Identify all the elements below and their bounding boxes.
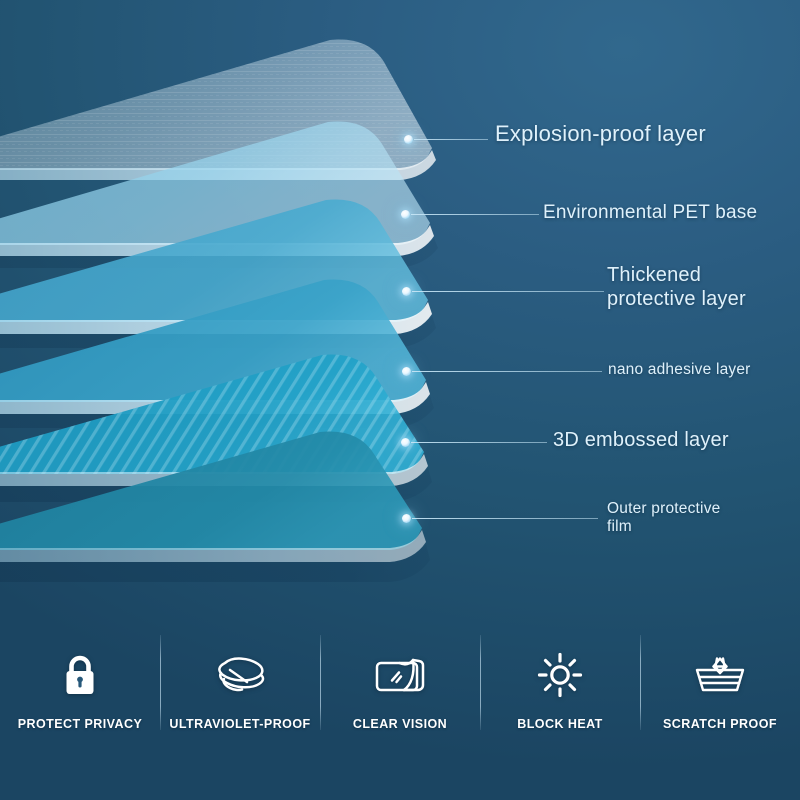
callout-label-environmental-pet-base: Environmental PET base	[543, 202, 757, 224]
feature-label: SCRATCH PROOF	[663, 717, 777, 731]
callout-dot-4	[402, 367, 411, 376]
callout-label-explosion-proof-layer: Explosion-proof layer	[495, 121, 706, 147]
callout-label-3d-embossed-layer: 3D embossed layer	[553, 429, 729, 453]
feature-scratch-proof[interactable]: SCRATCH PROOF	[640, 625, 800, 800]
callout-dot-1	[404, 135, 413, 144]
callout-leader-3	[412, 291, 604, 292]
layer-outer-protective-film	[0, 431, 430, 582]
layer-nano-adhesive	[0, 279, 434, 428]
diamond-glass-icon	[689, 647, 751, 703]
feature-block-heat[interactable]: BLOCK HEAT	[480, 625, 640, 800]
layer-thickened-protective	[0, 199, 436, 348]
callout-dot-6	[402, 514, 411, 523]
feature-ultraviolet-proof[interactable]: ULTRAVIOLET-PROOF	[160, 625, 320, 800]
callout-leader-6	[412, 518, 598, 519]
feature-bar: PROTECT PRIVACY ULTRAVIOLET-PROOF	[0, 625, 800, 800]
feature-label: BLOCK HEAT	[517, 717, 603, 731]
callout-dot-2	[401, 210, 410, 219]
lock-icon	[60, 647, 100, 703]
layer-explosion-proof	[0, 39, 436, 180]
sun-icon	[536, 647, 584, 703]
cloth-icon	[211, 647, 269, 703]
screen-peel-icon	[371, 647, 429, 703]
callout-label-thickened-protective-layer: Thickened protective layer	[607, 264, 746, 311]
feature-clear-vision[interactable]: CLEAR VISION	[320, 625, 480, 800]
callout-dot-5	[401, 438, 410, 447]
layer-3d-embossed	[0, 354, 432, 502]
callout-dot-3	[402, 287, 411, 296]
callout-label-nano-adhesive-layer: nano adhesive layer	[608, 361, 751, 379]
callout-leader-4	[412, 371, 602, 372]
product-infographic: Explosion-proof layer Environmental PET …	[0, 0, 800, 800]
feature-protect-privacy[interactable]: PROTECT PRIVACY	[0, 625, 160, 800]
feature-label: PROTECT PRIVACY	[18, 717, 143, 731]
callout-leader-1	[414, 139, 488, 140]
callout-leader-2	[411, 214, 539, 215]
feature-label: ULTRAVIOLET-PROOF	[169, 717, 310, 731]
callout-label-outer-protective-film: Outer protective film	[607, 500, 720, 537]
feature-label: CLEAR VISION	[353, 717, 447, 731]
layer-pet-base	[0, 121, 438, 268]
callout-leader-5	[411, 442, 547, 443]
